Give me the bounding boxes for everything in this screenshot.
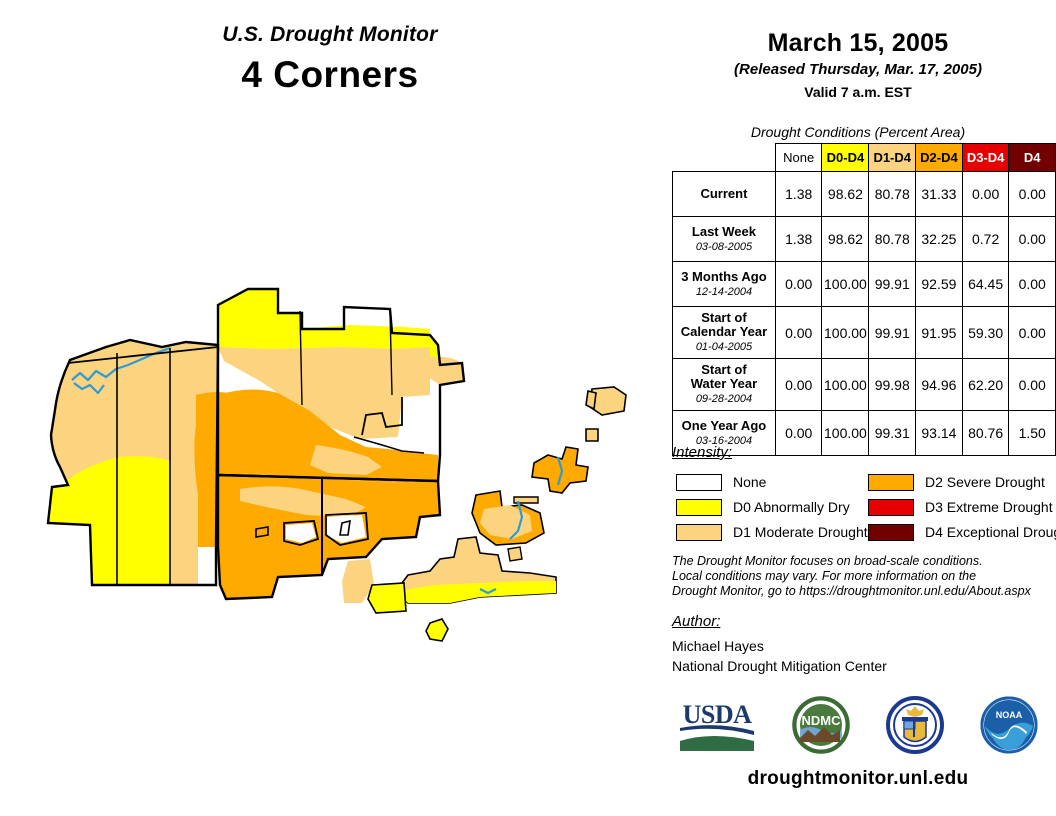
drought-map — [10, 285, 650, 645]
table-cell-d0-d4: 100.00 — [822, 411, 869, 456]
row-label-date: 01-04-2005 — [677, 340, 771, 354]
table-cell-d4: 0.00 — [1009, 172, 1056, 217]
report-date: March 15, 2005 — [660, 28, 1056, 58]
row-label-title: Last Week — [677, 225, 771, 239]
table-cell-d1-d4: 99.91 — [869, 307, 916, 359]
patch-south-d0-low — [368, 583, 406, 613]
patch-d2-cluster — [532, 447, 588, 493]
table-cell-d4: 0.00 — [1009, 262, 1056, 307]
table-cell-d1-d4: 80.78 — [869, 217, 916, 262]
table-cell-d3-d4: 0.00 — [962, 172, 1009, 217]
row-label-title: Start ofWater Year — [677, 363, 771, 391]
table-header-row: None D0-D4 D1-D4 D2-D4 D3-D4 D4 — [673, 144, 1056, 172]
map-region-colorado — [218, 289, 464, 483]
column-header-d2-d4: D2-D4 — [916, 144, 963, 172]
ndmc-logo: NDMC — [792, 696, 850, 759]
table-cell-d2-d4: 32.25 — [916, 217, 963, 262]
noaa-logo: NOAA — [980, 696, 1038, 759]
table-cell-none: 0.00 — [775, 307, 822, 359]
svg-text:USDA: USDA — [683, 700, 753, 729]
table-cell-d0-d4: 98.62 — [822, 172, 869, 217]
usda-logo: USDA — [678, 697, 756, 758]
author-name: Michael Hayes — [672, 636, 887, 656]
legend-item: D4 Exceptional Drought — [868, 520, 1056, 545]
patch-d1-small-1 — [586, 391, 596, 409]
legend-swatch — [676, 474, 722, 491]
legend-swatch — [868, 474, 914, 491]
colorado-d0-north — [218, 289, 430, 349]
map-title-block: U.S. Drought Monitor 4 Corners — [0, 22, 660, 98]
legend-item: D3 Extreme Drought — [868, 495, 1056, 520]
row-label-title: Start ofCalendar Year — [677, 311, 771, 339]
row-label: Last Week03-08-2005 — [673, 217, 776, 262]
legend-label: D1 Moderate Drought — [733, 524, 868, 541]
row-label-title: Current — [677, 187, 771, 201]
table-cell-d3-d4: 64.45 — [962, 262, 1009, 307]
page-title: 4 Corners — [0, 52, 660, 98]
column-header-none: None — [775, 144, 822, 172]
legend-swatch — [676, 524, 722, 541]
row-label: Start ofCalendar Year01-04-2005 — [673, 307, 776, 359]
table-cell-d3-d4: 0.72 — [962, 217, 1009, 262]
row-label-date: 12-14-2004 — [677, 285, 771, 299]
table-cell-d1-d4: 80.78 — [869, 172, 916, 217]
legend-swatch — [676, 499, 722, 516]
release-date: (Released Thursday, Mar. 17, 2005) — [660, 60, 1056, 80]
legend-heading: Intensity: — [672, 444, 732, 461]
row-label: 3 Months Ago12-14-2004 — [673, 262, 776, 307]
row-label-date: 09-28-2004 — [677, 392, 771, 406]
author-org: National Drought Mitigation Center — [672, 656, 887, 676]
table-cell-d2-d4: 91.95 — [916, 307, 963, 359]
valid-time: Valid 7 a.m. EST — [660, 83, 1056, 102]
table-cell-d2-d4: 94.96 — [916, 359, 963, 411]
svg-text:NOAA: NOAA — [996, 710, 1023, 720]
column-header-d3-d4: D3-D4 — [962, 144, 1009, 172]
table-caption: Drought Conditions (Percent Area) — [660, 124, 1056, 140]
table-cell-d2-d4: 31.33 — [916, 172, 963, 217]
table-cell-d1-d4: 99.98 — [869, 359, 916, 411]
table-cell-none: 0.00 — [775, 262, 822, 307]
table-cell-none: 0.00 — [775, 359, 822, 411]
patch-isolated-d0 — [426, 619, 448, 641]
table-cell-d0-d4: 100.00 — [822, 262, 869, 307]
table-cell-d4: 1.50 — [1009, 411, 1056, 456]
legend-label: D0 Abnormally Dry — [733, 499, 850, 516]
table-cell-d3-d4: 62.20 — [962, 359, 1009, 411]
row-label: Start ofWater Year09-28-2004 — [673, 359, 776, 411]
usdc-seal — [886, 696, 944, 759]
column-header-d0-d4: D0-D4 — [822, 144, 869, 172]
table-cell-d0-d4: 100.00 — [822, 359, 869, 411]
table-cell-d3-d4: 59.30 — [962, 307, 1009, 359]
patch-d1-mid-dot — [508, 547, 522, 561]
table-cell-d4: 0.00 — [1009, 359, 1056, 411]
author-heading: Author: — [672, 613, 720, 630]
table-cell-none: 0.00 — [775, 411, 822, 456]
legend-label: None — [733, 474, 766, 491]
legend-swatch — [868, 499, 914, 516]
legend-swatch — [868, 524, 914, 541]
title-subheading: U.S. Drought Monitor — [0, 22, 660, 48]
table-cell-none: 1.38 — [775, 217, 822, 262]
row-label: Current — [673, 172, 776, 217]
table-cell-d3-d4: 80.76 — [962, 411, 1009, 456]
row-label-title: 3 Months Ago — [677, 270, 771, 284]
disclaimer-text: The Drought Monitor focuses on broad-sca… — [672, 554, 1052, 599]
drought-conditions-table: None D0-D4 D1-D4 D2-D4 D3-D4 D4 Current1… — [672, 143, 1056, 456]
author-block: Michael Hayes National Drought Mitigatio… — [672, 636, 887, 676]
table-cell-d4: 0.00 — [1009, 217, 1056, 262]
column-header-d4: D4 — [1009, 144, 1056, 172]
table-cell-d2-d4: 92.59 — [916, 262, 963, 307]
legend-item: D2 Severe Drought — [868, 470, 1056, 495]
legend-column-right: D2 Severe DroughtD3 Extreme DroughtD4 Ex… — [868, 470, 1056, 545]
column-header-d1-d4: D1-D4 — [869, 144, 916, 172]
site-url: droughtmonitor.unl.edu — [660, 768, 1056, 790]
table-cell-none: 1.38 — [775, 172, 822, 217]
table-corner-cell — [673, 144, 776, 172]
table-cell-d0-d4: 100.00 — [822, 307, 869, 359]
table-row: 3 Months Ago12-14-20040.00100.0099.9192.… — [673, 262, 1056, 307]
legend-label: D4 Exceptional Drought — [925, 524, 1056, 541]
legend-item: D1 Moderate Drought — [676, 520, 868, 545]
table-row: Start ofWater Year09-28-20040.00100.0099… — [673, 359, 1056, 411]
logo-strip: USDA NDMC — [660, 692, 1056, 762]
table-row: Start ofCalendar Year01-04-20050.00100.0… — [673, 307, 1056, 359]
date-block: March 15, 2005 (Released Thursday, Mar. … — [660, 28, 1056, 102]
legend-item: None — [676, 470, 868, 495]
table-cell-d0-d4: 98.62 — [822, 217, 869, 262]
table-row: Last Week03-08-20051.3898.6280.7832.250.… — [673, 217, 1056, 262]
table-cell-d1-d4: 99.91 — [869, 262, 916, 307]
svg-text:NDMC: NDMC — [802, 713, 842, 728]
legend-column-left: NoneD0 Abnormally DryD1 Moderate Drought — [676, 470, 868, 545]
legend-label: D3 Extreme Drought — [925, 499, 1053, 516]
table-cell-d4: 0.00 — [1009, 307, 1056, 359]
table-cell-d2-d4: 93.14 — [916, 411, 963, 456]
legend-item: D0 Abnormally Dry — [676, 495, 868, 520]
table-row: Current1.3898.6280.7831.330.000.00 — [673, 172, 1056, 217]
legend-label: D2 Severe Drought — [925, 474, 1045, 491]
table-cell-d1-d4: 99.31 — [869, 411, 916, 456]
row-label-date: 03-08-2005 — [677, 240, 771, 254]
row-label-title: One Year Ago — [677, 419, 771, 433]
patch-d1-tiny — [586, 429, 598, 441]
